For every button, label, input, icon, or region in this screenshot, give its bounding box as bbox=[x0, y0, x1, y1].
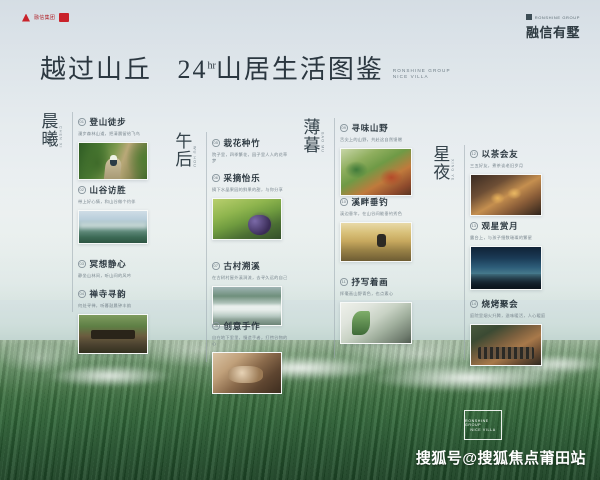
thumbnail-image bbox=[79, 315, 147, 353]
thumbnail-image bbox=[341, 149, 411, 195]
activity-number-icon: 07 bbox=[212, 262, 220, 270]
activity-title: 创意手作 bbox=[224, 320, 261, 332]
thumbnail-image bbox=[341, 223, 411, 261]
column-title: 晨曦 bbox=[38, 112, 56, 148]
activity-description: 庭院里烟火升腾，滋味暖活，人心暖庭 bbox=[470, 313, 550, 319]
column-divider bbox=[72, 112, 73, 312]
activity-number-icon: 12 bbox=[470, 150, 478, 158]
activity-thumbnail[interactable] bbox=[212, 352, 282, 394]
thumbnail-image bbox=[213, 353, 281, 393]
activity-item[interactable]: 10溪畔垂钓溪边垂竿，在山谷间能垂钓秀色 bbox=[340, 196, 420, 262]
activity-title: 禅寺寻韵 bbox=[90, 288, 127, 300]
activity-number-icon: 06 bbox=[212, 174, 220, 182]
activity-number-icon: 11 bbox=[340, 278, 348, 286]
activity-item[interactable]: 02山谷访胜带上好心情，和山谷做个约伴 bbox=[78, 184, 156, 244]
activity-description: 带上好心情，和山谷做个约伴 bbox=[78, 199, 156, 205]
activity-title: 古村溯溪 bbox=[224, 260, 261, 272]
activity-item[interactable]: 06采摘怡乐摘下水晶果园的鲜果的甜，与你分享 bbox=[212, 172, 290, 240]
thumbnail-image bbox=[471, 325, 541, 365]
activity-number-icon: 02 bbox=[78, 186, 86, 194]
thumbnail-image bbox=[471, 175, 541, 215]
activity-thumbnail[interactable] bbox=[340, 222, 412, 262]
activity-description: 三五好友，煮茶谈老旧岁月 bbox=[470, 163, 550, 169]
activity-item[interactable]: 03冥想静心静坐山林间，听山间的风吟 bbox=[78, 258, 156, 279]
thumbnail-image bbox=[213, 287, 281, 325]
activity-description: 溪边垂竿，在山谷间能垂钓秀色 bbox=[340, 211, 420, 217]
activity-description: 在古树村屋外溪涧流，去寻久远的自己 bbox=[212, 275, 290, 281]
activity-thumbnail[interactable] bbox=[78, 314, 148, 354]
poster-foreground: 融信集团 RONSHINE GROUP 融信有墅 越过山丘 24hr山居生活图鉴… bbox=[0, 0, 600, 480]
activity-head: 09寻味山野 bbox=[340, 122, 420, 134]
activity-title: 观星赏月 bbox=[482, 220, 519, 232]
footer-badge-line2: NICE VILLA bbox=[470, 428, 495, 432]
column-divider bbox=[334, 118, 335, 358]
activity-item[interactable]: 05栽花种竹院子里，四季繁花，园子里人人的花草梦 bbox=[212, 137, 290, 164]
activity-description: 摘下水晶果园的鲜果的甜，与你分享 bbox=[212, 187, 290, 193]
column-title: 星夜 bbox=[430, 145, 448, 181]
activity-item[interactable]: 11抒写着画挥毫画山野青色，也点素心 bbox=[340, 276, 420, 344]
activity-thumbnail[interactable] bbox=[470, 174, 542, 216]
activity-head: 07古村溯溪 bbox=[212, 260, 290, 272]
activity-title: 登山徒步 bbox=[90, 116, 127, 128]
activity-thumbnail[interactable] bbox=[470, 246, 542, 290]
activity-description: 何处寻禅，听暮鼓晨钟丰韵 bbox=[78, 303, 156, 309]
activity-number-icon: 09 bbox=[340, 124, 348, 132]
column-divider bbox=[206, 132, 207, 362]
activity-head: 10溪畔垂钓 bbox=[340, 196, 420, 208]
column-header-1: 晨曦CHEN XI bbox=[38, 112, 62, 148]
activity-thumbnail[interactable] bbox=[470, 324, 542, 366]
activity-number-icon: 03 bbox=[78, 260, 86, 268]
activity-head: 01登山徒步 bbox=[78, 116, 156, 128]
thumbnail-image bbox=[213, 199, 281, 239]
thumbnail-image bbox=[471, 247, 541, 289]
activity-number-icon: 14 bbox=[470, 300, 478, 308]
activity-number-icon: 04 bbox=[78, 290, 86, 298]
thumbnail-image bbox=[341, 303, 411, 343]
activity-head: 12以茶会友 bbox=[470, 148, 550, 160]
activity-title: 溪畔垂钓 bbox=[352, 196, 389, 208]
column-title: 午后 bbox=[172, 132, 190, 168]
activity-item[interactable]: 07古村溯溪在古树村屋外溪涧流，去寻久远的自己 bbox=[212, 260, 290, 326]
footer-badge-line1: RONSHINE GROUP bbox=[465, 419, 501, 427]
activity-description: 院子里，四季繁花，园子里人人的花草梦 bbox=[212, 152, 290, 164]
activity-number-icon: 05 bbox=[212, 139, 220, 147]
column-subtitle: CHEN XI bbox=[58, 126, 62, 148]
activity-title: 烧烤聚会 bbox=[482, 298, 519, 310]
activity-item[interactable]: 13观星赏月露台上，与孩子细数璀璨的繁星 bbox=[470, 220, 550, 290]
activity-head: 11抒写着画 bbox=[340, 276, 420, 288]
activity-title: 冥想静心 bbox=[90, 258, 127, 270]
thumbnail-image bbox=[79, 143, 147, 179]
activity-head: 02山谷访胜 bbox=[78, 184, 156, 196]
activity-title: 山谷访胜 bbox=[90, 184, 127, 196]
activity-item[interactable]: 09寻味山野舌尖上的山野，共赴这自然馈赠 bbox=[340, 122, 420, 196]
activity-item[interactable]: 04禅寺寻韵何处寻禅，听暮鼓晨钟丰韵 bbox=[78, 288, 156, 354]
activity-description: 挥毫画山野青色，也点素心 bbox=[340, 291, 420, 297]
activity-number-icon: 10 bbox=[340, 198, 348, 206]
column-subtitle: WU HOU bbox=[192, 146, 196, 168]
activity-description: 舌尖上的山野，共赴这自然馈赠 bbox=[340, 137, 420, 143]
activity-description: 静坐山林间，听山间的风吟 bbox=[78, 273, 156, 279]
activity-item[interactable]: 01登山徒步漫步森林山道，把清晨留给飞鸟 bbox=[78, 116, 156, 180]
schedule-columns: 晨曦CHEN XI01登山徒步漫步森林山道，把清晨留给飞鸟02山谷访胜带上好心情… bbox=[0, 0, 600, 480]
activity-title: 寻味山野 bbox=[352, 122, 389, 134]
activity-thumbnail[interactable] bbox=[78, 142, 148, 180]
thumbnail-image bbox=[79, 211, 147, 243]
activity-head: 13观星赏月 bbox=[470, 220, 550, 232]
column-header-4: 星夜XING YE bbox=[430, 145, 454, 181]
column-divider bbox=[464, 145, 465, 360]
activity-thumbnail[interactable] bbox=[78, 210, 148, 244]
activity-number-icon: 08 bbox=[212, 322, 220, 330]
column-subtitle: BAO MU bbox=[320, 132, 324, 153]
activity-head: 08创意手作 bbox=[212, 320, 290, 332]
activity-item[interactable]: 08创意手作自在地下里里，慢造手者，打捞谷物的心 bbox=[212, 320, 290, 394]
column-header-3: 薄暮BAO MU bbox=[300, 118, 324, 154]
activity-thumbnail[interactable] bbox=[212, 198, 282, 240]
activity-head: 06采摘怡乐 bbox=[212, 172, 290, 184]
activity-head: 14烧烤聚会 bbox=[470, 298, 550, 310]
activity-title: 采摘怡乐 bbox=[224, 172, 261, 184]
column-subtitle: XING YE bbox=[450, 159, 454, 181]
activity-title: 以茶会友 bbox=[482, 148, 519, 160]
activity-title: 栽花种竹 bbox=[224, 137, 261, 149]
activity-head: 03冥想静心 bbox=[78, 258, 156, 270]
activity-item[interactable]: 14烧烤聚会庭院里烟火升腾，滋味暖活，人心暖庭 bbox=[470, 298, 550, 366]
activity-thumbnail[interactable] bbox=[340, 302, 412, 344]
activity-number-icon: 01 bbox=[78, 118, 86, 126]
column-header-2: 午后WU HOU bbox=[172, 132, 196, 168]
activity-description: 自在地下里里，慢造手者，打捞谷物的心 bbox=[212, 335, 290, 347]
activity-number-icon: 13 bbox=[470, 222, 478, 230]
activity-head: 04禅寺寻韵 bbox=[78, 288, 156, 300]
footer-brand-badge: RONSHINE GROUP NICE VILLA bbox=[464, 410, 502, 440]
activity-title: 抒写着画 bbox=[352, 276, 389, 288]
activity-head: 05栽花种竹 bbox=[212, 137, 290, 149]
watermark: 搜狐号@搜狐焦点莆田站 bbox=[416, 447, 586, 468]
activity-description: 漫步森林山道，把清晨留给飞鸟 bbox=[78, 131, 156, 137]
activity-item[interactable]: 12以茶会友三五好友，煮茶谈老旧岁月 bbox=[470, 148, 550, 216]
column-title: 薄暮 bbox=[300, 118, 318, 154]
activity-thumbnail[interactable] bbox=[340, 148, 412, 196]
activity-description: 露台上，与孩子细数璀璨的繁星 bbox=[470, 235, 550, 241]
